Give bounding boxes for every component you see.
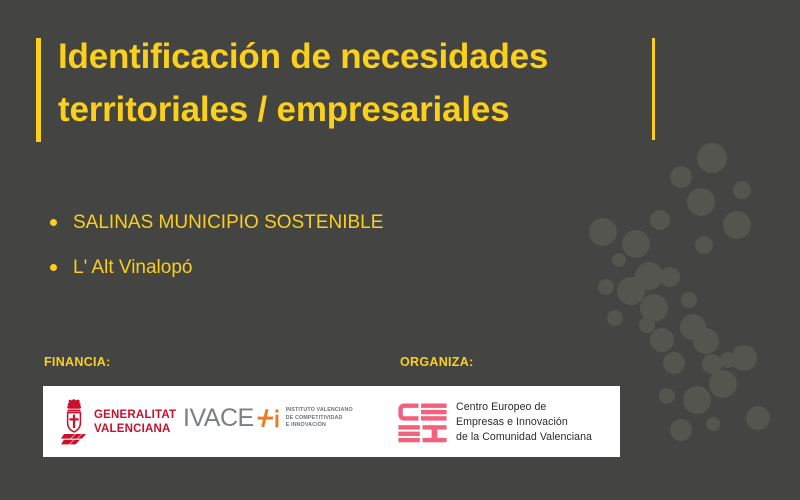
decorative-dot	[731, 345, 757, 371]
generalitat-emblem-icon	[61, 398, 87, 446]
logo-ceei: Centro Europeo de Empresas e Innovación …	[398, 400, 592, 445]
decorative-dot	[681, 292, 697, 308]
decorative-dot	[663, 352, 685, 374]
page-title: Identificación de necesidades territoria…	[58, 30, 646, 136]
ivace-plus-i-icon	[255, 407, 281, 431]
decorative-dot	[709, 370, 737, 398]
decorative-dot	[693, 328, 719, 354]
decorative-dot	[670, 166, 692, 188]
decorative-dot	[607, 310, 623, 326]
bullet-dot-icon	[50, 219, 57, 226]
decorative-dot	[622, 230, 650, 258]
generalitat-wordmark: GENERALITAT VALENCIANA	[94, 408, 176, 436]
ivace-wordmark: IVACE	[183, 406, 254, 431]
accent-bar-right	[652, 38, 655, 140]
decorative-dot	[589, 218, 617, 246]
decorative-dot	[695, 236, 713, 254]
accent-bar-left	[36, 38, 41, 142]
financia-label: FINANCIA:	[44, 355, 111, 369]
decorative-dot	[650, 328, 674, 352]
decorative-dot	[720, 352, 736, 368]
list-item-label: SALINAS MUNICIPIO SOSTENIBLE	[73, 212, 383, 233]
decorative-dot	[697, 143, 727, 173]
decorative-dot	[670, 419, 692, 441]
bullet-list: SALINAS MUNICIPIO SOSTENIBLE L' Alt Vina…	[44, 212, 564, 302]
decorative-dot	[650, 210, 670, 230]
decorative-dot	[746, 406, 770, 430]
decorative-dot	[723, 211, 751, 239]
decorative-dot	[612, 253, 626, 267]
ceei-mark-icon	[398, 402, 447, 444]
decorative-dot	[687, 188, 715, 216]
list-item: SALINAS MUNICIPIO SOSTENIBLE	[44, 212, 564, 235]
decorative-dot	[659, 388, 675, 404]
ivace-subtitle: INSTITUTO VALENCIANO DE COMPETITIVIDAD E…	[286, 407, 353, 430]
ceei-description: Centro Europeo de Empresas e Innovación …	[456, 400, 592, 445]
decorative-dot	[683, 386, 711, 414]
logo-ivace: IVACE INSTITUTO VALENCIANO DE COMPETITIV…	[183, 406, 353, 431]
logo-generalitat-valenciana: GENERALITAT VALENCIANA	[61, 398, 176, 446]
sponsor-logo-bar: GENERALITAT VALENCIANA IVACE INSTITUTO V…	[43, 386, 620, 457]
decorative-dot	[660, 267, 680, 287]
organiza-label: ORGANIZA:	[400, 355, 474, 369]
decorative-dot	[640, 294, 668, 322]
list-item: L' Alt Vinalopó	[44, 257, 564, 280]
decorative-dot	[598, 279, 614, 295]
bullet-dot-icon	[50, 264, 57, 271]
decorative-dot	[733, 181, 751, 199]
list-item-label: L' Alt Vinalopó	[73, 257, 192, 278]
decorative-dot	[617, 277, 645, 305]
decorative-dot	[706, 417, 720, 431]
decorative-dot	[635, 262, 663, 290]
title-block: Identificación de necesidades territoria…	[36, 30, 660, 148]
decorative-dot	[702, 354, 722, 374]
decorative-dot	[639, 317, 655, 333]
decorative-dot	[680, 314, 706, 340]
slide-canvas: Identificación de necesidades territoria…	[0, 0, 800, 500]
